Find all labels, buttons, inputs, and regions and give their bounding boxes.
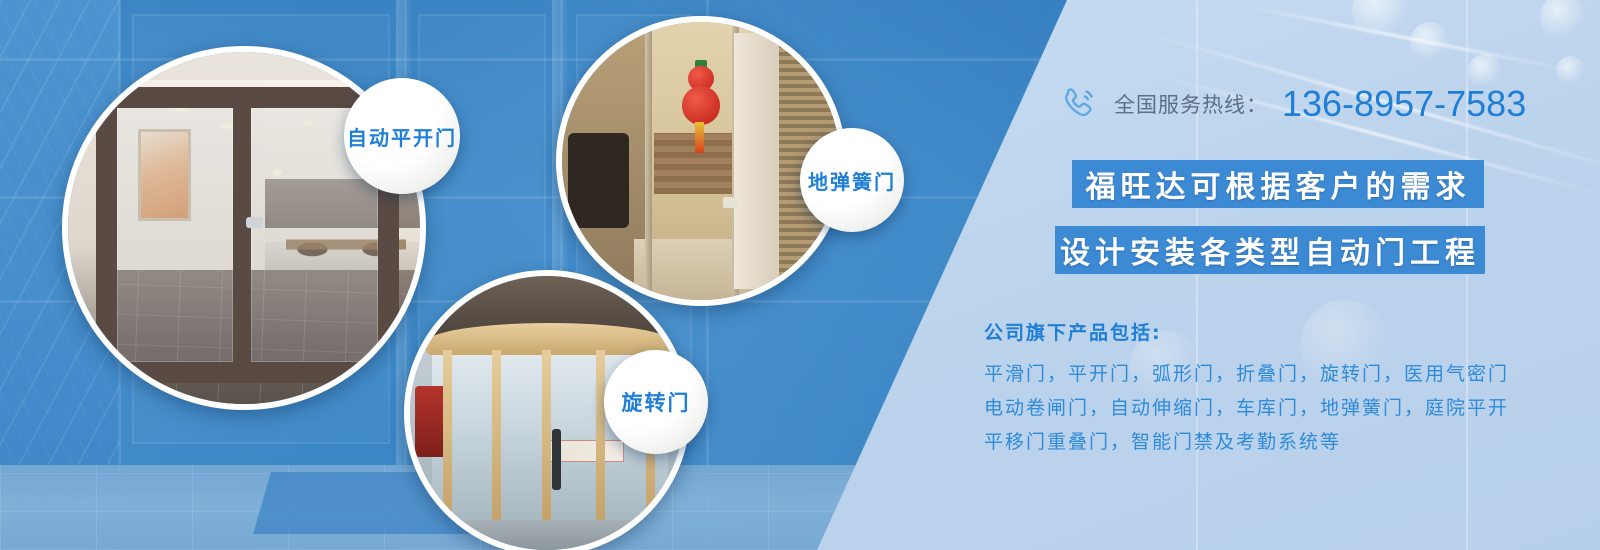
door-handle: [246, 217, 264, 228]
bokeh-light: [1556, 56, 1586, 86]
bollard: [552, 429, 560, 489]
badge-label: 旋转门: [622, 387, 691, 417]
paved-ground: [410, 520, 684, 550]
door-sill: [96, 362, 399, 383]
white-door-leaf: [734, 33, 778, 289]
product-list-line: 平滑门，平开门，弧形门，折叠门，旋转门，医用气密门: [984, 357, 1504, 391]
bokeh-light: [1410, 22, 1450, 62]
claim-box-2: 设计安装各类型自动门工程: [1055, 226, 1485, 274]
badge-revolving-door[interactable]: 旋转门: [604, 350, 708, 454]
phone-icon: [1056, 82, 1100, 126]
door-mullion: [492, 350, 501, 528]
door-lock: [723, 197, 737, 208]
door-mullion: [443, 350, 452, 528]
product-list-line: 平移门重叠门，智能门禁及考勤系统等: [984, 425, 1504, 459]
door-mullion: [596, 350, 605, 528]
gourd-tassel: [695, 122, 703, 153]
hotline-block: 全国服务热线： 136-8957-7583: [1056, 82, 1526, 126]
claim-box-1: 福旺达可根据客户的需求: [1072, 160, 1484, 208]
badge-floor-spring-door[interactable]: 地弹簧门: [800, 128, 904, 232]
badge-automatic-swing-door[interactable]: 自动平开门: [344, 78, 460, 194]
claim-text: 福旺达可根据客户的需求: [1086, 162, 1471, 206]
bokeh-light: [1352, 0, 1410, 40]
product-list-block: 公司旗下产品包括: 平滑门，平开门，弧形门，折叠门，旋转门，医用气密门 电动卷闸…: [984, 318, 1504, 459]
product-list-line: 电动卷闸门，自动伸缩门，车库门，地弹簧门，庭院平开: [984, 391, 1504, 425]
dark-furniture: [568, 133, 629, 228]
hotline-number[interactable]: 136-8957-7583: [1282, 83, 1526, 125]
door-jamb-left: [645, 22, 652, 300]
door-frame: [96, 87, 117, 383]
floor-spring-door-scene: [562, 22, 840, 300]
gourd-decoration-bottom: [682, 86, 721, 125]
badge-label: 地弹簧门: [808, 166, 896, 195]
product-list-heading: 公司旗下产品包括:: [984, 318, 1504, 345]
badge-label: 自动平开门: [347, 122, 457, 151]
door-glass-left: [117, 108, 233, 361]
door-frame: [233, 87, 251, 383]
promotional-banner: 自动平开门 地弹簧门 旋转门 全国服务热线： 136-8957-7583 福旺达…: [0, 0, 1600, 550]
hotline-label: 全国服务热线：: [1114, 89, 1268, 119]
claim-text: 设计安装各类型自动门工程: [1060, 228, 1480, 272]
door-mullion: [542, 350, 551, 528]
bokeh-light: [1540, 0, 1586, 40]
